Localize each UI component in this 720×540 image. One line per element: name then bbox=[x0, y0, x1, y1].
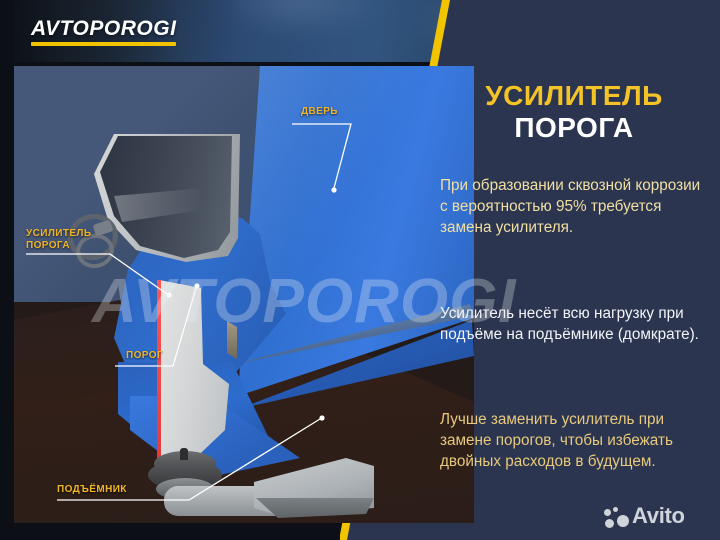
callout-label-reinforcement-line2: ПОРОГА bbox=[26, 240, 70, 252]
bottom-border bbox=[0, 523, 340, 540]
callout-label-sill: ПОРОГ bbox=[126, 350, 163, 362]
illustration-panel: ДВЕРЬ УСИЛИТЕЛЬ ПОРОГА ПОРОГ ПОДЪЁМНИК bbox=[14, 66, 474, 523]
paragraph-corrosion: При образовании сквозной коррозии с веро… bbox=[440, 175, 702, 238]
avito-logo-text: Avito bbox=[632, 505, 685, 527]
callout-label-reinforcement-line1: УСИЛИТЕЛЬ bbox=[26, 228, 91, 240]
paragraph-load: Усилитель несёт всю нагрузку при подъёме… bbox=[440, 303, 702, 345]
callout-label-door: ДВЕРЬ bbox=[301, 106, 338, 118]
left-border bbox=[0, 0, 14, 540]
ad-image: AVTOPOROGI bbox=[0, 0, 720, 540]
page-title-line2: ПОРОГА bbox=[440, 114, 708, 142]
brand-logo-text: AVTOPOROGI bbox=[31, 18, 176, 39]
brand-logo: AVTOPOROGI bbox=[31, 18, 176, 46]
text-content-column: УСИЛИТЕЛЬ ПОРОГА При образовании сквозно… bbox=[440, 0, 710, 540]
callout-label-lift: ПОДЪЁМНИК bbox=[57, 484, 127, 496]
page-title-line1: УСИЛИТЕЛЬ bbox=[440, 82, 708, 110]
avito-logo: Avito bbox=[604, 504, 708, 532]
avito-dots-icon bbox=[604, 507, 630, 529]
paragraph-advice: Лучше заменить усилитель при замене поро… bbox=[440, 409, 702, 472]
weld-seam bbox=[227, 321, 237, 359]
brand-logo-underline bbox=[31, 42, 176, 46]
corrosion-edge-marker bbox=[157, 280, 161, 468]
